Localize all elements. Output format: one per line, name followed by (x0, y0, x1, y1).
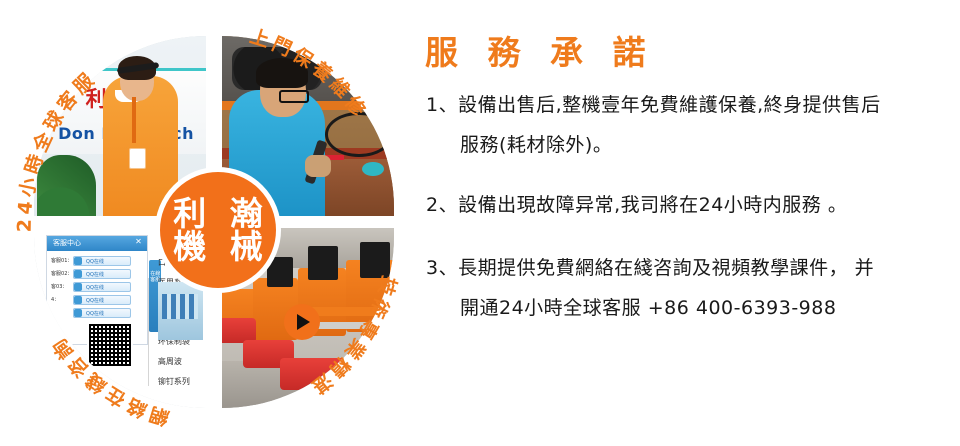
arc-text: 網絡在綫咨詢 (46, 331, 172, 429)
arc-text: 上門保養維修 (247, 25, 372, 123)
page-root: 利瀚機械 Don Han Mach (0, 0, 960, 446)
item-number: 1、 (426, 94, 458, 116)
logo-line-2: 機 械 (167, 230, 269, 263)
commitment-item-2: 2、設備出現故障异常,我司將在24小時内服務 。 (426, 185, 954, 225)
page-title: 服 務 承 諾 (425, 26, 654, 74)
item-line-1: 設備出現故障异常,我司將在24小時内服務 。 (458, 194, 847, 216)
service-commitment-panel: 服 務 承 諾 1、設備出售后,整機壹年免費維護保養,終身提供售后 服務(耗材除… (420, 0, 960, 446)
commitment-item-1: 1、設備出售后,整機壹年免費維護保養,終身提供售后 服務(耗材除外)。 (426, 85, 954, 165)
item-line-1: 設備出售后,整機壹年免費維護保養,終身提供售后 (458, 94, 881, 116)
commitment-item-3: 3、長期提供免費網絡在綫咨詢及視頻教學課件， 并 開通24小時全球客服 +86 … (426, 248, 954, 328)
arc-text: 技術專業精湛 (304, 273, 401, 400)
circular-photo-collage: 利瀚機械 Don Han Mach (8, 12, 412, 432)
arc-label-top-right: 上門保養維修 (247, 25, 372, 123)
arc-label-bottom-left: 網絡在綫咨詢 (46, 331, 172, 429)
company-logo-badge: 利 瀚 機 械 (155, 167, 281, 293)
item-line-1: 長期提供免費網絡在綫咨詢及視頻教學課件， 并 (458, 257, 874, 279)
arc-label-top-left: 24小時全球客服 (14, 67, 101, 233)
logo-line-1: 利 瀚 (167, 197, 269, 230)
item-line-2: 開通24小時全球客服 +86 400-6393-988 (426, 288, 954, 328)
item-number: 2、 (426, 194, 458, 216)
item-number: 3、 (426, 257, 458, 279)
arc-label-bottom-right: 技術專業精湛 (304, 273, 401, 400)
item-line-2: 服務(耗材除外)。 (426, 125, 954, 165)
arc-text: 24小時全球客服 (14, 67, 101, 233)
